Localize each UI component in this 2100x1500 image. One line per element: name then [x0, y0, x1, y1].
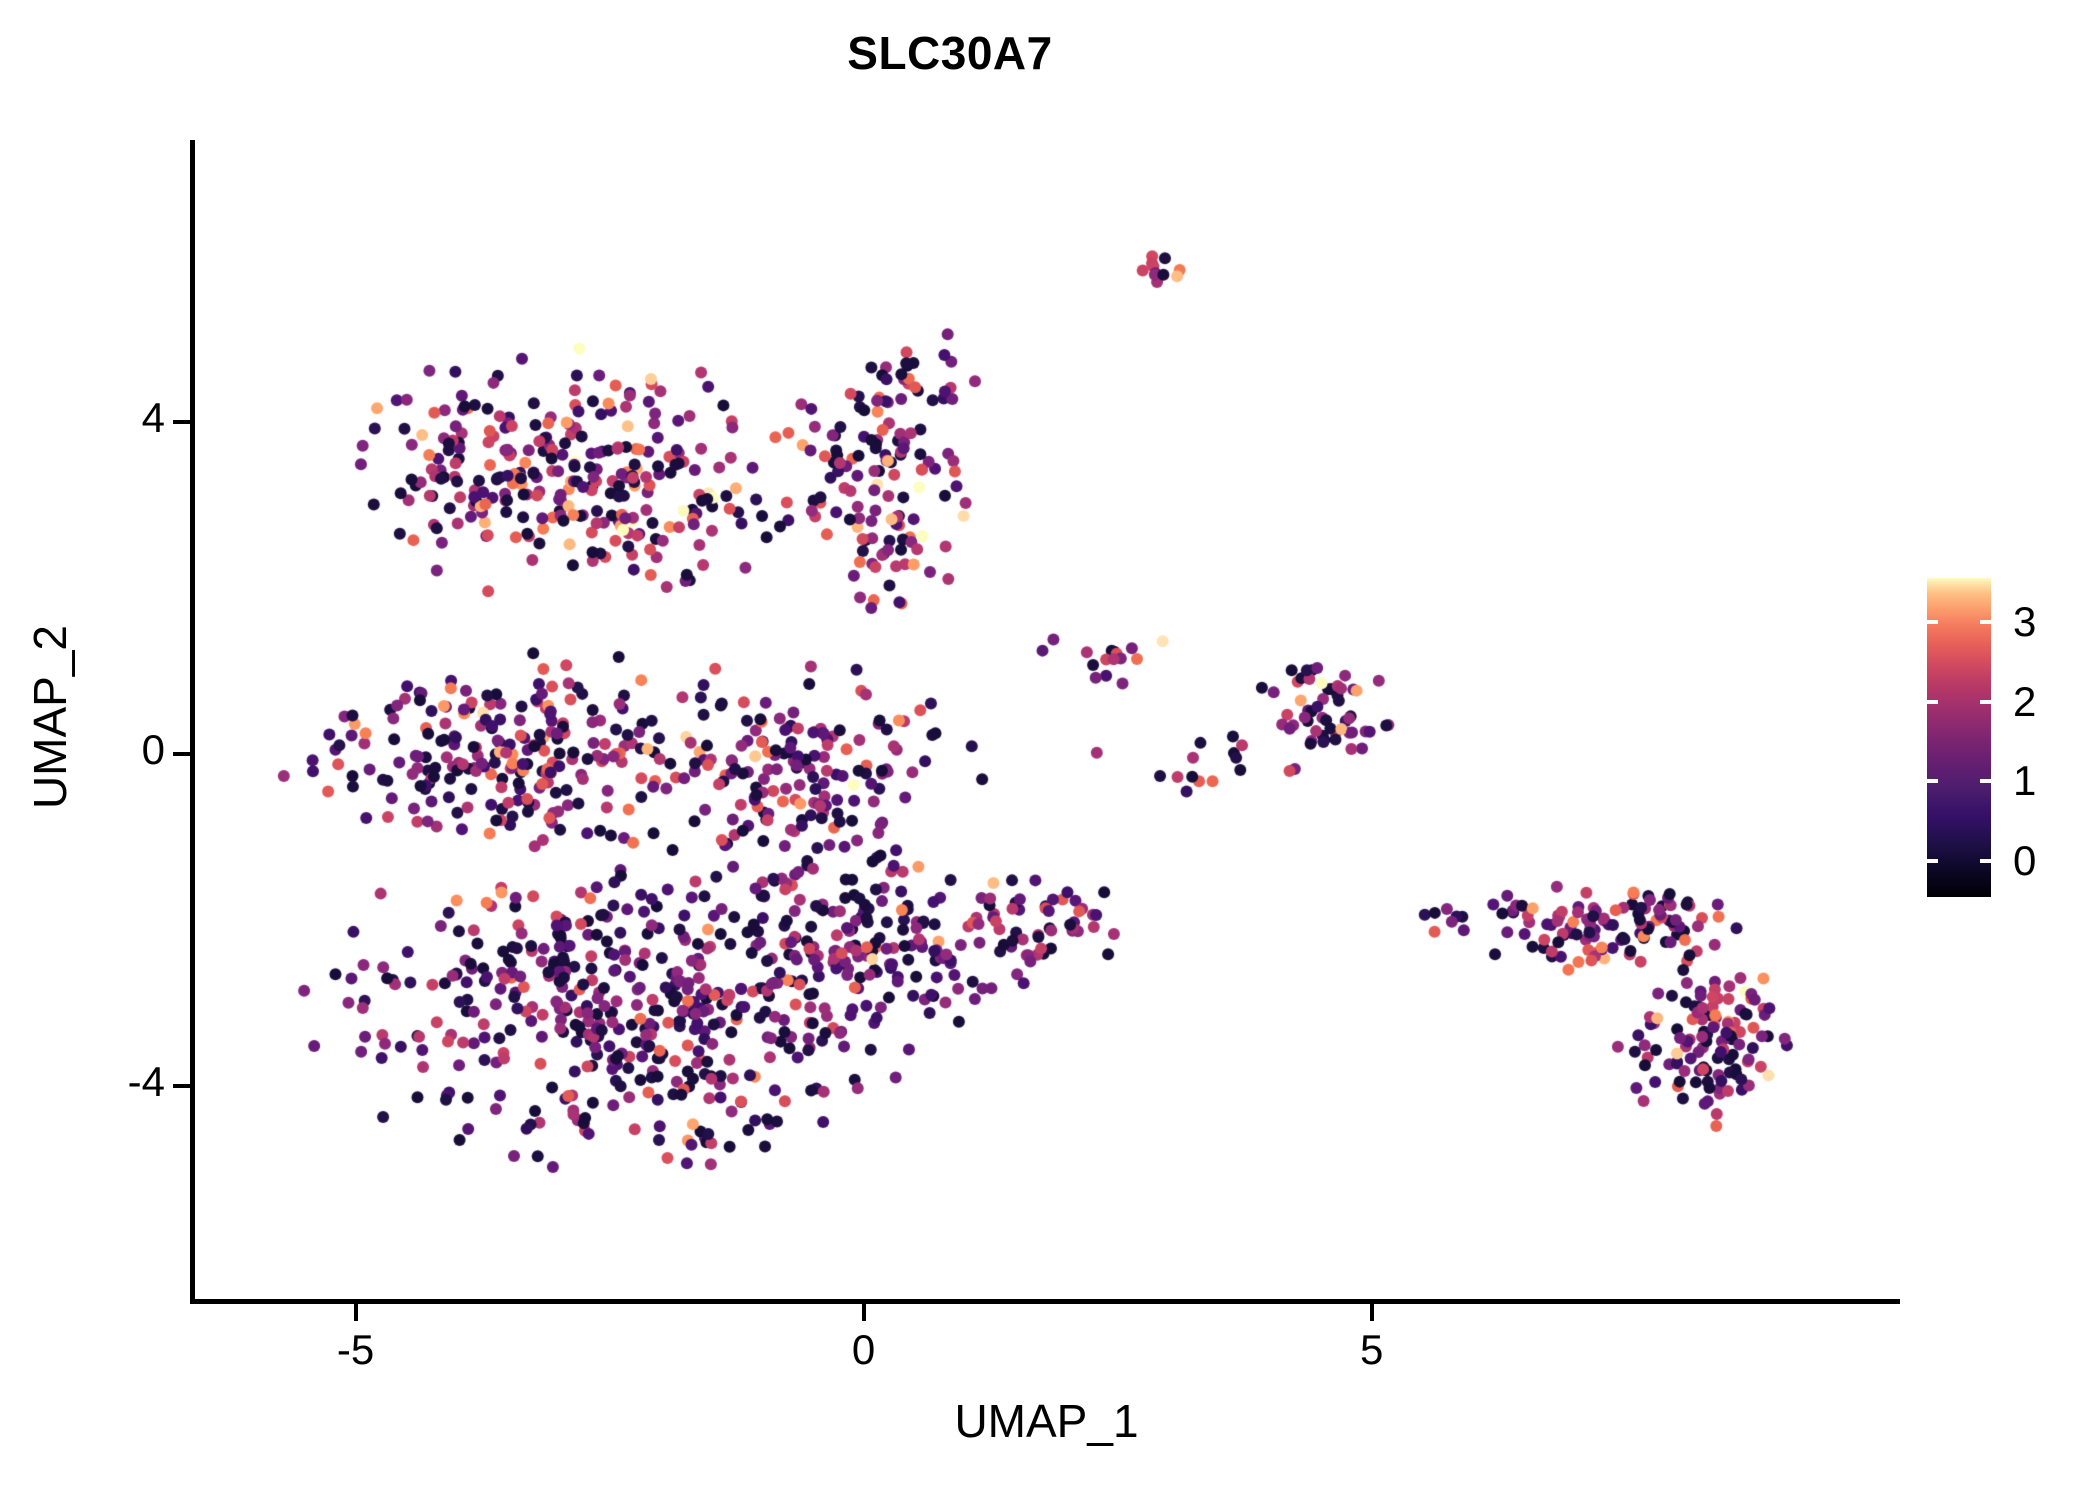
- scatter-points-canvas: [193, 140, 1900, 1302]
- colorbar-gradient: [1927, 578, 1991, 897]
- y-tick-mark: [173, 420, 190, 424]
- colorbar-tick-label: 1: [2013, 757, 2036, 805]
- colorbar-tick-mark: [1980, 620, 1991, 624]
- colorbar-tick-mark: [1927, 700, 1938, 704]
- x-axis-title: UMAP_1: [193, 1394, 1900, 1448]
- x-axis-line: [190, 1299, 1900, 1304]
- colorbar-tick-label: 2: [2013, 678, 2036, 726]
- plot-panel: [193, 140, 1900, 1302]
- y-tick-label: 4: [142, 394, 165, 442]
- y-tick-label: -4: [128, 1058, 165, 1106]
- y-tick-label: 0: [142, 726, 165, 774]
- colorbar-tick-mark: [1980, 779, 1991, 783]
- y-axis-title: UMAP_2: [23, 417, 77, 1017]
- x-tick-mark: [862, 1304, 866, 1321]
- colorbar-tick-mark: [1927, 859, 1938, 863]
- x-tick-label: 5: [1360, 1326, 1383, 1374]
- x-tick-mark: [1370, 1304, 1374, 1321]
- y-axis-line: [190, 140, 195, 1303]
- x-tick-mark: [354, 1304, 358, 1321]
- colorbar-tick-label: 0: [2013, 837, 2036, 885]
- colorbar-tick-mark: [1927, 620, 1938, 624]
- colorbar-tick-mark: [1927, 779, 1938, 783]
- x-tick-label: 0: [852, 1326, 875, 1374]
- y-tick-mark: [173, 1084, 190, 1088]
- colorbar-tick-mark: [1980, 859, 1991, 863]
- colorbar-tick-mark: [1980, 700, 1991, 704]
- page-title: SLC30A7: [0, 26, 1900, 80]
- y-tick-mark: [173, 752, 190, 756]
- x-tick-label: -5: [337, 1326, 374, 1374]
- colorbar-tick-label: 3: [2013, 598, 2036, 646]
- umap-feature-plot: SLC30A7 -4 0 4 -5 0 5 UMAP_1 UMAP_2 0 1 …: [0, 0, 2100, 1500]
